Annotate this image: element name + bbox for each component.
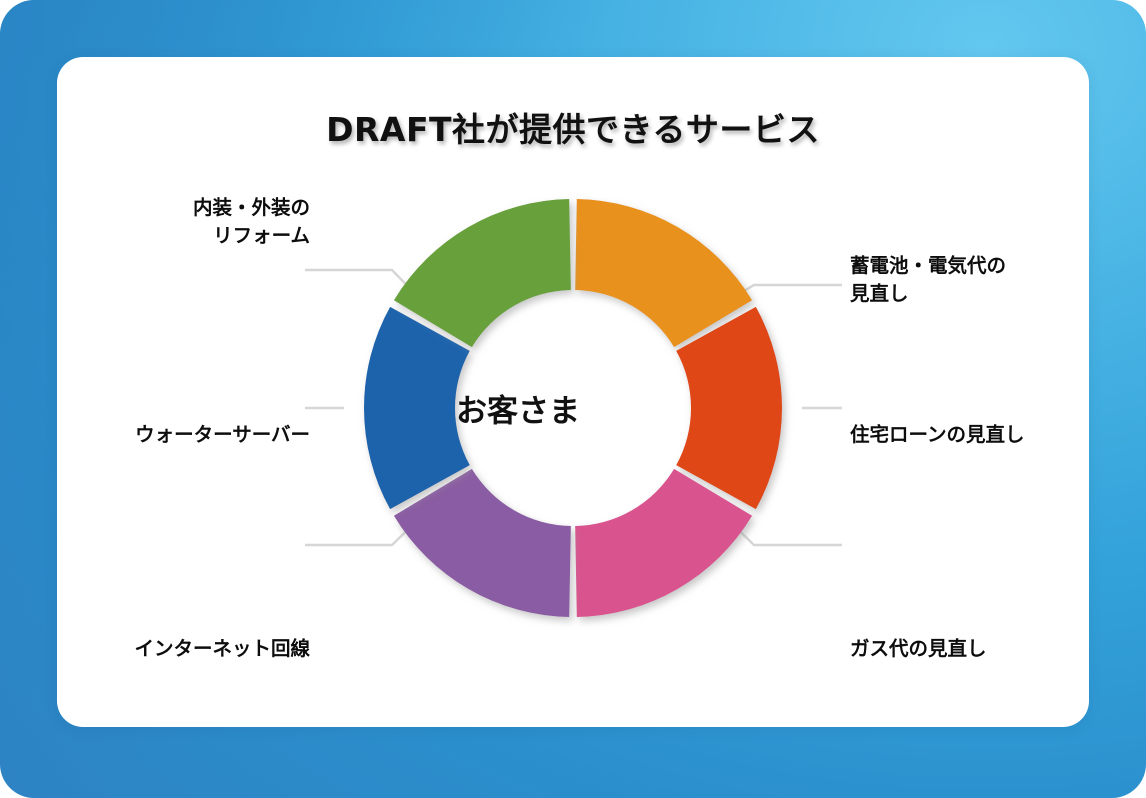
slice-label-internet: インターネット回線 [65,635,310,663]
content-card: DRAFT社が提供できるサービス [57,57,1089,727]
slice-label-mortgage: 住宅ローンの見直し [850,421,1080,449]
slice-label-battery: 蓄電池・電気代の 見直し [850,252,1080,309]
slice-label-water: ウォーターサーバー [65,421,310,449]
slice-label-gas: ガス代の見直し [850,635,1080,663]
donut-center-label: お客さま [443,386,593,431]
donut-slice[interactable] [676,307,782,509]
slice-label-reform: 内装・外装の リフォーム [65,194,310,251]
slide-root: DRAFT社が提供できるサービス [0,0,1146,798]
donut-chart: お客さま [57,57,1089,727]
